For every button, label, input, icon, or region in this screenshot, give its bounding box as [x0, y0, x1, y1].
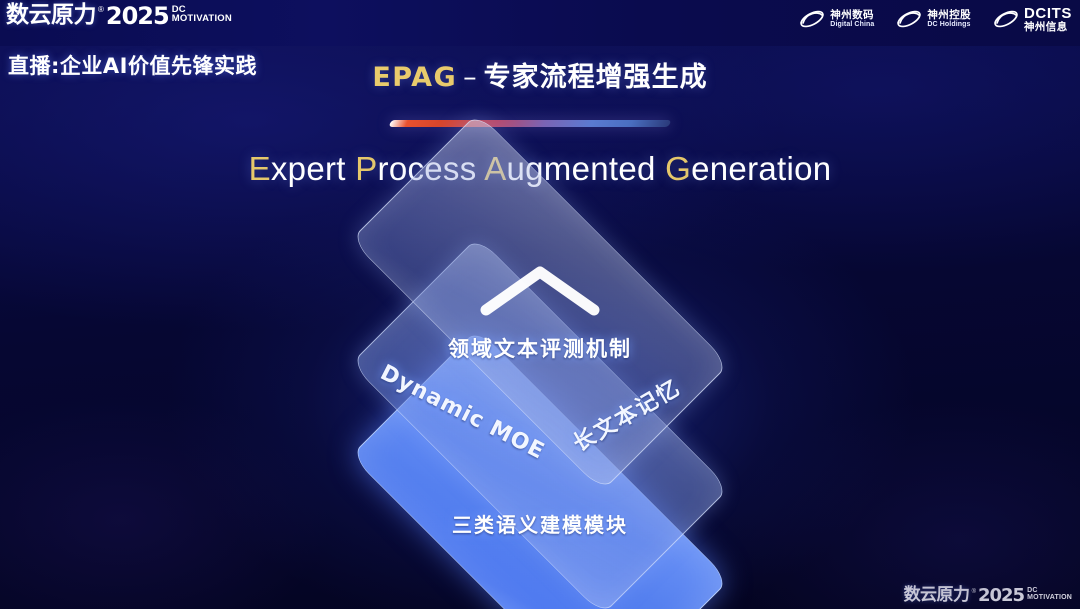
isometric-layer-stack: 领域文本评测机制 Dynamic MOE 长文本记忆 三类语义建模模块 — [0, 0, 1080, 609]
watermark-logo: 数云原力 ® 2025 DC MOTIVATION — [904, 587, 1072, 605]
watermark-logo-dc: DC MOTIVATION — [1027, 588, 1072, 601]
slide-canvas: 数云原力 ® 2025 DC MOTIVATION 直播:企业AI价值先锋实践 … — [0, 0, 1080, 609]
watermark-logo-registered: ® — [972, 589, 976, 595]
watermark-logo-dc-line2: MOTIVATION — [1027, 595, 1072, 602]
watermark-logo-cn: 数云原力 — [904, 587, 970, 604]
watermark-logo-year: 2025 — [978, 587, 1024, 605]
chevron-up-icon — [478, 262, 602, 320]
